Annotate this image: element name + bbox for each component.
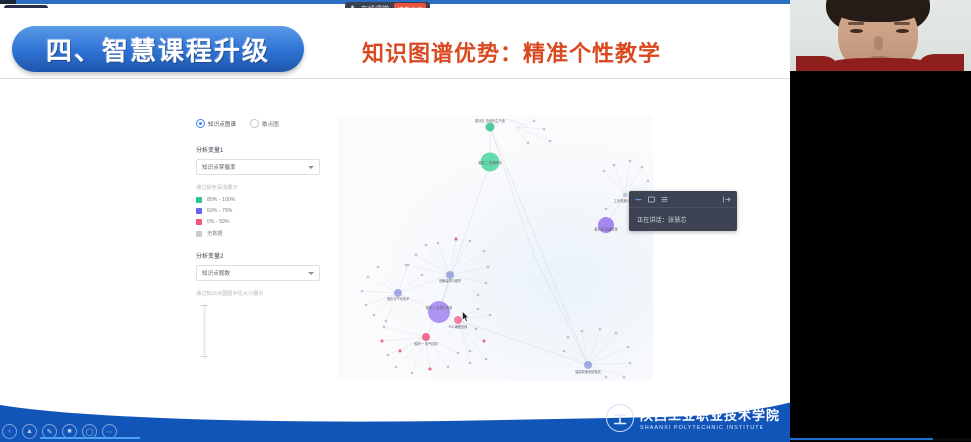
webcam-shirt-right	[920, 54, 964, 71]
webcam-brow-left	[848, 22, 864, 25]
variable1-hint: 通过颜色深浅展示	[196, 184, 320, 191]
graph-node	[623, 193, 627, 197]
speaker-floating-window[interactable]: 正在讲话：张慧芯	[629, 191, 737, 231]
school-logo-block: 工 陕西工业职业技术学院 SHAANXI POLYTECHNIC INSTITU…	[606, 404, 780, 432]
school-seal-text: 工	[613, 409, 626, 428]
back-icon[interactable]: ‹	[2, 424, 17, 439]
graph-node	[486, 123, 495, 132]
mastery-legend: 80% - 100% 60% - 79% 0% - 59% 无数据	[196, 197, 320, 237]
view-mode-label: 知识点图谱	[208, 120, 236, 128]
school-seal-icon: 工	[606, 404, 634, 432]
view-mode-knowledge-graph[interactable]: 知识点图谱	[196, 119, 236, 128]
svg-text:PLC编程应用: PLC编程应用	[449, 324, 468, 329]
knowledge-graph-app: 知识点图谱 散点图 分析变量1 知识点掌握率 通过颜色深浅展示	[0, 79, 790, 386]
view-mode-label: 散点图	[262, 120, 279, 128]
svg-text:模块二 机械传动: 模块二 机械传动	[478, 160, 501, 165]
legend-label: 80% - 100%	[207, 197, 235, 203]
legend-swatch-icon	[196, 219, 202, 225]
slider-rail	[203, 303, 206, 359]
analysis-control-panel: 知识点图谱 散点图 分析变量1 知识点掌握率 通过颜色深浅展示	[196, 119, 320, 359]
graph-node	[428, 301, 450, 323]
restore-icon[interactable]	[648, 196, 655, 203]
webcam-eye-left	[850, 29, 863, 33]
webcam-video	[790, 0, 971, 71]
chevron-down-icon	[308, 272, 314, 275]
graph-node	[422, 333, 430, 341]
legend-label: 无数据	[207, 230, 223, 237]
section-title-text: 四、智慧课程升级	[46, 31, 270, 68]
radius-slider[interactable]	[200, 303, 210, 359]
speaker-status-text: 正在讲话：张慧芯	[637, 215, 687, 224]
legend-label: 60% - 79%	[207, 208, 232, 214]
svg-text:模块一 电气控制: 模块一 电气控制	[414, 341, 437, 346]
variable1-select[interactable]: 知识点掌握率	[196, 159, 320, 175]
radio-unselected-icon	[250, 119, 259, 128]
variable1-value: 知识点掌握率	[202, 163, 236, 171]
slider-tick	[200, 356, 208, 357]
presentation-progress-bar[interactable]	[40, 437, 140, 439]
view-mode-radio-group: 知识点图谱 散点图	[196, 119, 320, 128]
svg-text:液压与气动技术: 液压与气动技术	[387, 296, 410, 301]
view-mode-scatter[interactable]: 散点图	[250, 119, 279, 128]
legend-swatch-icon	[196, 197, 202, 203]
radio-selected-icon	[196, 119, 205, 128]
webcam-nose	[874, 36, 883, 50]
svg-text:模块四 机器视觉: 模块四 机器视觉	[594, 227, 618, 232]
chevron-down-icon	[308, 166, 314, 169]
expand-icon[interactable]	[723, 196, 731, 203]
speaker-window-titlebar	[629, 191, 737, 208]
mouse-cursor-icon	[462, 311, 469, 322]
svg-text:智能制造系统集成: 智能制造系统集成	[575, 369, 601, 374]
svg-text:设备装调与维护: 设备装调与维护	[439, 278, 461, 283]
slide-footer: 工 陕西工业职业技术学院 SHAANXI POLYTECHNIC INSTITU…	[0, 398, 790, 442]
graph-svg: 模块五 自动化生产线 模块二 机械传动 模块四 机器视觉 模块三 检测与传感 模…	[338, 115, 653, 381]
svg-text:模块三 检测与传感: 模块三 检测与传感	[426, 305, 453, 310]
legend-item: 0% - 59%	[196, 219, 320, 225]
legend-item: 无数据	[196, 230, 320, 237]
knowledge-graph-canvas[interactable]: 模块五 自动化生产线 模块二 机械传动 模块四 机器视觉 模块三 检测与传感 模…	[338, 115, 653, 381]
variable2-select[interactable]: 知识点题数	[196, 265, 320, 281]
cursor-icon[interactable]: ▲	[22, 424, 37, 439]
school-name-en: SHAANXI POLYTECHNIC INSTITUTE	[640, 425, 780, 431]
legend-label: 0% - 59%	[207, 219, 230, 225]
variable2-hint: 通过知识点圆圈半径大小展示	[196, 290, 320, 297]
screen-root: 录制中 在线课堂 结束共享 四、智慧课程升级 知识图谱优势：精准个性教学	[0, 0, 971, 442]
webcam-empty-area	[790, 71, 971, 438]
menu-icon[interactable]	[661, 196, 668, 203]
window-top-corner	[0, 0, 16, 4]
slide-headline: 知识图谱优势：精准个性教学	[362, 36, 661, 68]
graph-node	[454, 316, 462, 324]
webcam-eye-right	[896, 29, 909, 33]
svg-text:模块五 自动化生产线: 模块五 自动化生产线	[475, 118, 506, 123]
graph-node	[446, 271, 454, 279]
variable2-label: 分析变量2	[196, 251, 320, 260]
shared-screen-area: 录制中 在线课堂 结束共享 四、智慧课程升级 知识图谱优势：精准个性教学	[0, 0, 790, 442]
speaker-window-body: 正在讲话：张慧芯	[629, 208, 737, 230]
section-title-plate: 四、智慧课程升级	[12, 26, 304, 72]
webcam-brow-right	[894, 22, 910, 25]
slider-tick	[200, 305, 208, 306]
graph-node	[394, 289, 402, 297]
legend-swatch-icon	[196, 208, 202, 214]
school-name-cn: 陕西工业职业技术学院	[640, 405, 780, 424]
webcam-shirt-left	[796, 56, 836, 71]
webcam-bottom-progress	[790, 438, 933, 440]
legend-item: 60% - 79%	[196, 208, 320, 214]
graph-node	[584, 361, 592, 369]
variable2-value: 知识点题数	[202, 269, 230, 277]
variable1-label: 分析变量1	[196, 145, 320, 154]
minimize-icon[interactable]	[635, 196, 642, 203]
legend-swatch-icon	[196, 231, 202, 237]
legend-item: 80% - 100%	[196, 197, 320, 203]
webcam-panel	[790, 0, 971, 442]
slide-header: 四、智慧课程升级 知识图谱优势：精准个性教学	[0, 8, 790, 78]
